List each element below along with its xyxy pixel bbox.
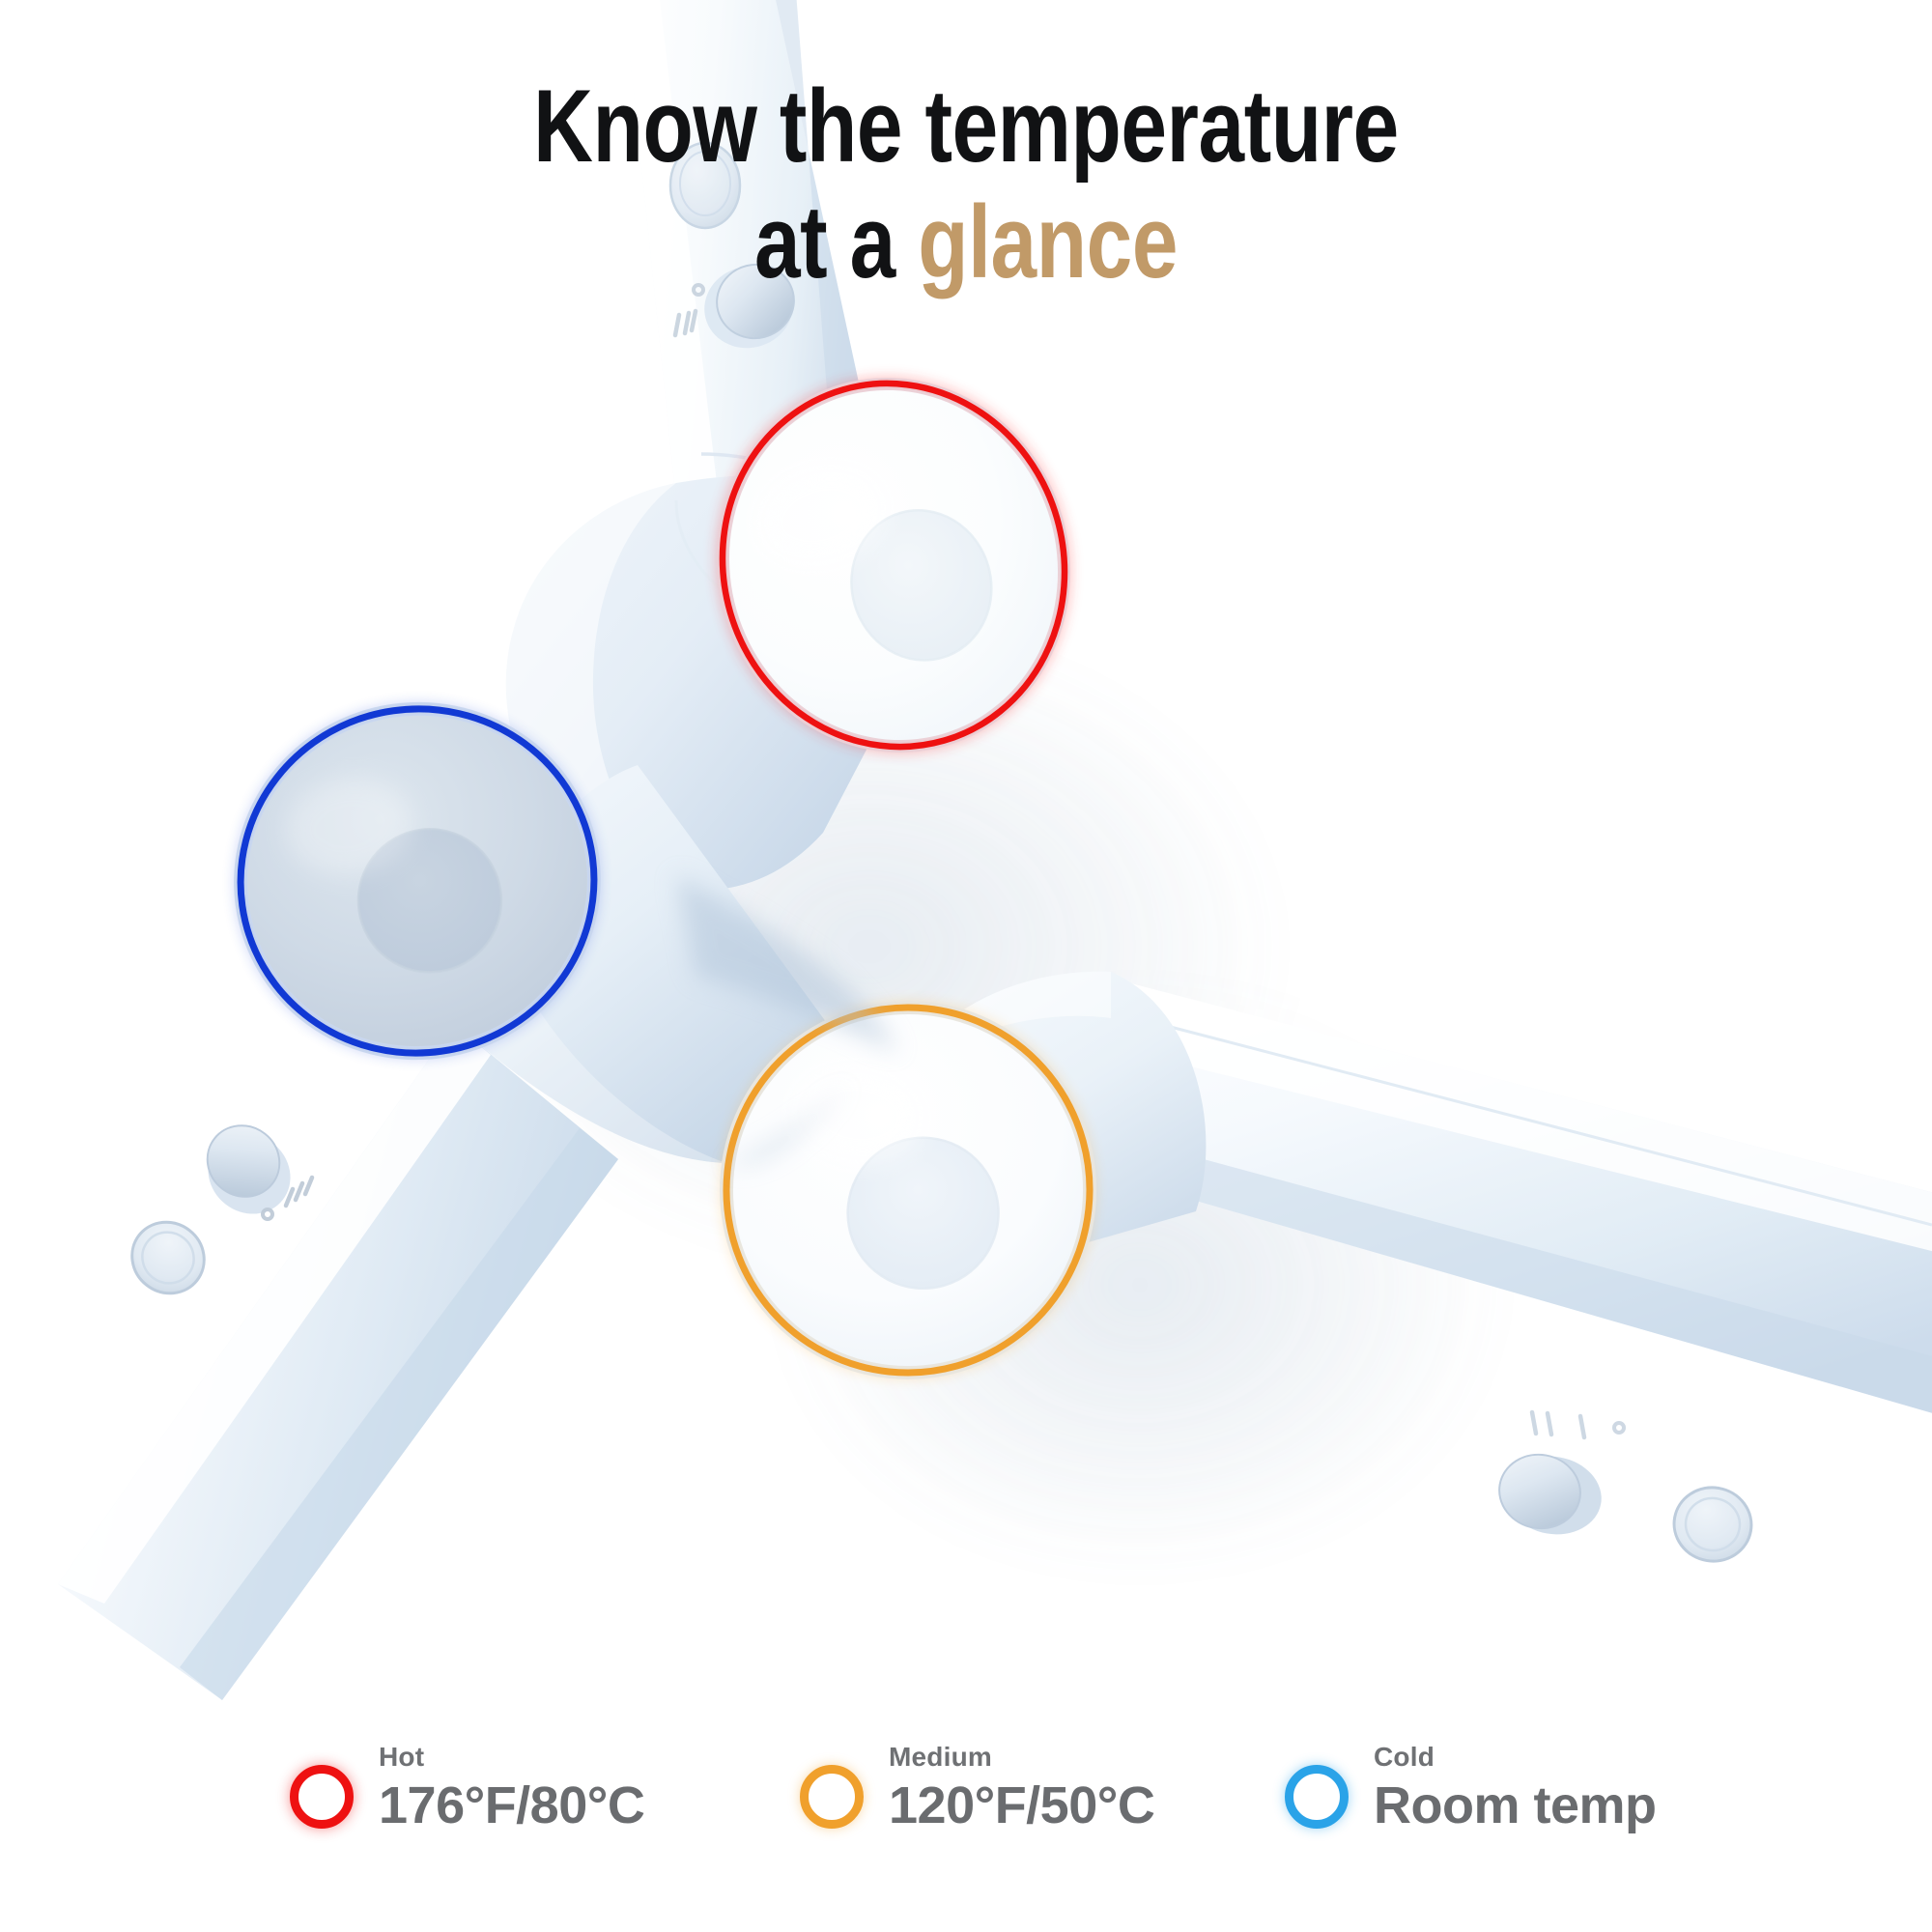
cold-ring-icon [1285, 1765, 1349, 1829]
product-marketing-image: Know the temperature at a glance Hot 176… [0, 0, 1932, 1932]
medium-dryer-slider-marks [1532, 1412, 1624, 1437]
legend-value-hot: 176°F/80°C [379, 1779, 644, 1832]
cold-dryer-handle [58, 1024, 618, 1700]
legend-caption-hot: Hot [379, 1744, 644, 1771]
medium-dryer-speed-slider[interactable] [1493, 1448, 1607, 1542]
medium-dryer-cool-shot-button[interactable] [1668, 1482, 1757, 1568]
legend-item-cold: Cold Room temp [1285, 1744, 1657, 1832]
legend-caption-medium: Medium [889, 1744, 1154, 1771]
legend-value-cold: Room temp [1374, 1779, 1657, 1832]
hot-ring-icon [290, 1765, 354, 1829]
temperature-legend: Hot 176°F/80°C Medium 120°F/50°C Cold Ro… [0, 1744, 1932, 1879]
cold-dryer-speed-slider[interactable] [192, 1111, 307, 1230]
legend-caption-cold: Cold [1374, 1744, 1657, 1771]
legend-value-medium: 120°F/50°C [889, 1779, 1154, 1832]
legend-item-hot: Hot 176°F/80°C [290, 1744, 644, 1832]
product-scene [0, 0, 1932, 1932]
medium-ring-icon [800, 1765, 864, 1829]
cold-dryer-cool-shot-button[interactable] [118, 1207, 218, 1308]
legend-item-medium: Medium 120°F/50°C [800, 1744, 1154, 1832]
hot-dryer-cool-shot-button[interactable] [670, 143, 740, 228]
